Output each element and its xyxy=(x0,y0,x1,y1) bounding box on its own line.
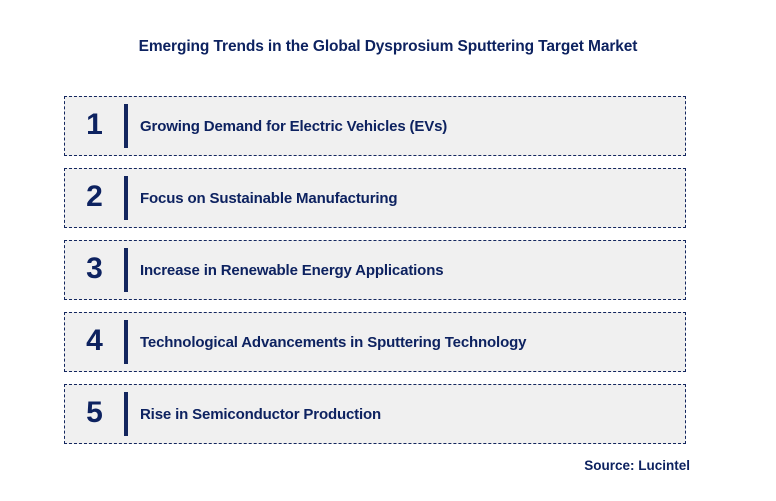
trend-row[interactable]: 4 Technological Advancements in Sputteri… xyxy=(64,312,686,372)
trend-row[interactable]: 2 Focus on Sustainable Manufacturing xyxy=(64,168,686,228)
page-title: Emerging Trends in the Global Dysprosium… xyxy=(0,38,776,56)
trend-label: Focus on Sustainable Manufacturing xyxy=(128,190,685,207)
trend-row[interactable]: 1 Growing Demand for Electric Vehicles (… xyxy=(64,96,686,156)
trend-label: Technological Advancements in Sputtering… xyxy=(128,334,685,351)
trend-list: 1 Growing Demand for Electric Vehicles (… xyxy=(64,96,686,444)
source-attribution: Source: Lucintel xyxy=(584,458,690,473)
trend-number: 4 xyxy=(65,326,124,358)
trend-label: Increase in Renewable Energy Application… xyxy=(128,262,685,279)
trend-label: Growing Demand for Electric Vehicles (EV… xyxy=(128,118,685,135)
trend-number: 5 xyxy=(65,398,124,430)
trend-number: 2 xyxy=(65,182,124,214)
trend-row[interactable]: 5 Rise in Semiconductor Production xyxy=(64,384,686,444)
trend-row[interactable]: 3 Increase in Renewable Energy Applicati… xyxy=(64,240,686,300)
trend-label: Rise in Semiconductor Production xyxy=(128,406,685,423)
trend-number: 3 xyxy=(65,254,124,286)
trend-number: 1 xyxy=(65,110,124,142)
infographic-page: Emerging Trends in the Global Dysprosium… xyxy=(0,0,776,501)
